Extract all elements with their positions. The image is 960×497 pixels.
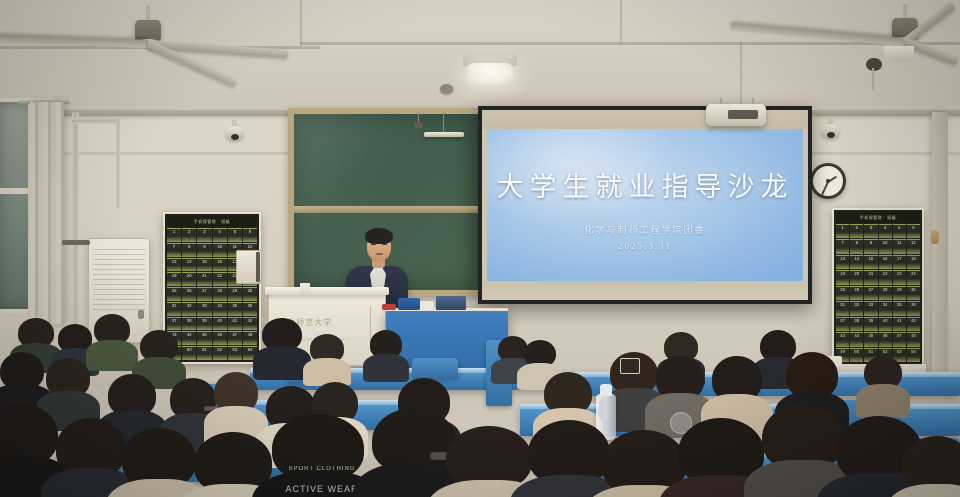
audience-member [214, 372, 258, 438]
pocket-chart-header: 手机保管袋 · 班级 [836, 212, 920, 223]
pocket-cell[interactable]: 54 [907, 348, 920, 362]
slide-subtitle-line-2: 2025.3.31 [487, 239, 803, 255]
pocket-cell[interactable]: 21 [197, 272, 211, 286]
upper-body [856, 384, 911, 417]
jacket-print-text-2: ACTIVE WEAR [278, 484, 366, 494]
pocket-cell[interactable]: 44 [182, 331, 196, 345]
clock-center-pin [826, 179, 830, 183]
pocket-cell[interactable]: 29 [893, 286, 906, 300]
camera-lens-icon [827, 132, 835, 138]
pocket-cell[interactable]: 41 [228, 317, 242, 331]
wall-camera-right [822, 118, 839, 138]
pocket-cell[interactable]: 36 [243, 302, 257, 316]
wall-camera-left [226, 120, 243, 140]
wall-pipe-thin [116, 118, 120, 208]
pocket-cell[interactable]: 12 [907, 239, 920, 253]
ceiling-speaker-stem [872, 68, 874, 90]
projector-vent [728, 110, 758, 119]
pocket-cell[interactable]: 42 [907, 317, 920, 331]
pocket-cell[interactable]: 14 [850, 255, 863, 269]
pocket-cell[interactable]: 2 [182, 228, 196, 242]
seat-back[interactable] [412, 358, 458, 378]
pocket-cell[interactable]: 6 [907, 224, 920, 238]
clock-minute-hand [821, 182, 829, 196]
pocket-cell[interactable]: 31 [167, 302, 181, 316]
audience-member-with-glasses [372, 408, 456, 497]
pocket-cell[interactable]: 10 [879, 239, 892, 253]
pocket-cell[interactable]: 25 [167, 287, 181, 301]
audience-member [56, 418, 126, 497]
pocket-cell[interactable]: 4 [879, 224, 892, 238]
lecture-hall-photo: 手机保管袋 · 班级 12345678910111213141516171819… [0, 0, 960, 497]
pocket-cell[interactable]: 15 [864, 255, 877, 269]
projected-slide: 大学生就业指导沙龙 化学与制药工程学院团委 2025.3.31 [487, 129, 803, 281]
bottle-cap [600, 384, 613, 396]
pocket-cell[interactable]: 47 [893, 332, 906, 346]
screen-bottom-band [482, 281, 808, 300]
pocket-cell[interactable]: 35 [893, 301, 906, 315]
ceiling-speaker-icon [440, 84, 453, 94]
pocket-cell[interactable]: 8 [850, 239, 863, 253]
white-paper-item [420, 301, 434, 310]
pocket-cell[interactable]: 8 [182, 243, 196, 257]
wall-switch-lever[interactable] [256, 252, 260, 282]
red-marker [382, 304, 396, 310]
pocket-cell[interactable]: 20 [850, 270, 863, 284]
hair-clip [620, 358, 640, 374]
pocket-cell[interactable]: 1 [167, 228, 181, 242]
pocket-cell[interactable]: 30 [907, 286, 920, 300]
pocket-cell[interactable]: 14 [182, 258, 196, 272]
slide-title: 大学生就业指导沙龙 [487, 165, 803, 204]
presenter-eye-left [371, 243, 376, 245]
pocket-cell[interactable]: 37 [167, 317, 181, 331]
pocket-cell[interactable]: 11 [893, 239, 906, 253]
pocket-chart-grid: 1234567891011121314151617181920212223242… [167, 227, 257, 360]
audience-member [370, 330, 402, 376]
pocket-cell[interactable]: 7 [167, 243, 181, 257]
pocket-cell[interactable]: 46 [213, 331, 227, 345]
pocket-cell[interactable]: 19 [167, 272, 181, 286]
curtain-left [30, 102, 64, 324]
audience-member [864, 356, 902, 410]
pocket-cell[interactable]: 25 [836, 286, 849, 300]
pocket-cell[interactable]: 32 [850, 301, 863, 315]
pocket-cell[interactable]: 47 [228, 331, 242, 345]
pocket-cell[interactable]: 21 [864, 270, 877, 284]
pocket-cell[interactable]: 7 [836, 239, 849, 253]
pocket-cell[interactable]: 22 [879, 270, 892, 284]
audience-member [310, 334, 344, 380]
pocket-cell[interactable]: 26 [182, 287, 196, 301]
pocket-cell[interactable]: 48 [243, 331, 257, 345]
pocket-cell[interactable]: 39 [864, 317, 877, 331]
pocket-cell[interactable]: 45 [197, 331, 211, 345]
pocket-cell[interactable]: 13 [836, 255, 849, 269]
pocket-cell[interactable]: 4 [213, 228, 227, 242]
projection-screen: 大学生就业指导沙龙 化学与制药工程学院团委 2025.3.31 [478, 106, 812, 304]
pocket-cell[interactable]: 31 [836, 301, 849, 315]
pocket-cell[interactable]: 41 [893, 317, 906, 331]
pocket-cell[interactable]: 40 [879, 317, 892, 331]
pocket-cell[interactable]: 42 [243, 317, 257, 331]
board-light-hook [414, 122, 423, 128]
pocket-cell[interactable]: 5 [228, 228, 242, 242]
pocket-cell[interactable]: 9 [864, 239, 877, 253]
pocket-cell[interactable]: 28 [213, 287, 227, 301]
pocket-cell[interactable]: 10 [213, 243, 227, 257]
pocket-cell[interactable]: 50 [850, 348, 863, 362]
pocket-cell[interactable]: 16 [213, 258, 227, 272]
paper-cup [300, 283, 310, 295]
presenter-hair [365, 228, 393, 244]
pocket-cell[interactable]: 48 [907, 332, 920, 346]
pocket-cell[interactable]: 37 [836, 317, 849, 331]
slide-subtitle-line-1: 化学与制药工程学院团委 [487, 223, 803, 239]
ceiling-joint-2 [620, 0, 622, 44]
pocket-cell[interactable]: 40 [213, 317, 227, 331]
slide-subtitle: 化学与制药工程学院团委 2025.3.31 [487, 223, 803, 255]
pocket-cell[interactable]: 34 [213, 302, 227, 316]
pocket-chart-grid: 1234567891011121314151617181920212223242… [836, 223, 920, 362]
board-light-fixture [424, 132, 464, 137]
pocket-cell[interactable]: 16 [879, 255, 892, 269]
board-light-wire [443, 112, 444, 134]
pocket-chart-header: 手机保管袋 · 班级 [167, 216, 257, 227]
pocket-cell[interactable]: 26 [850, 286, 863, 300]
screen-surface: 大学生就业指导沙龙 化学与制药工程学院团委 2025.3.31 [482, 110, 808, 300]
pocket-cell[interactable]: 52 [213, 346, 227, 360]
pocket-cell[interactable]: 45 [864, 332, 877, 346]
pocket-cell[interactable]: 3 [864, 224, 877, 238]
pocket-cell[interactable]: 35 [228, 302, 242, 316]
pocket-cell[interactable]: 18 [907, 255, 920, 269]
ceiling-light [463, 50, 517, 86]
door-handle[interactable] [931, 230, 939, 244]
pocket-cell[interactable]: 53 [228, 346, 242, 360]
pocket-cell[interactable]: 23 [893, 270, 906, 284]
pocket-cell[interactable]: 27 [197, 287, 211, 301]
pocket-cell[interactable]: 38 [850, 317, 863, 331]
light-diffuser [467, 63, 513, 85]
pocket-cell[interactable]: 22 [213, 272, 227, 286]
audience-member [902, 436, 960, 497]
wall-pipe-vertical [72, 112, 79, 327]
audience-member [94, 314, 130, 364]
wall-pipe-horizontal [72, 118, 120, 124]
ceiling-speaker-icon [866, 58, 882, 71]
pocket-cell[interactable]: 44 [850, 332, 863, 346]
pocket-cell[interactable]: 46 [879, 332, 892, 346]
ac-grille [93, 249, 146, 313]
audience-member [528, 420, 610, 497]
ceiling-lamp-shade [884, 46, 914, 62]
wall-clock [810, 163, 846, 199]
jacket-print-text-1: SPORT CLOTHING [278, 466, 366, 472]
pocket-cell[interactable]: 13 [167, 258, 181, 272]
ceiling-joint-1 [300, 0, 302, 46]
pocket-cell[interactable]: 51 [197, 346, 211, 360]
upper-body [86, 340, 138, 371]
pocket-cell[interactable]: 39 [197, 317, 211, 331]
pocket-cell[interactable]: 19 [836, 270, 849, 284]
lectern-top-surface [265, 287, 389, 295]
pocket-cell[interactable]: 9 [197, 243, 211, 257]
blue-box-item [398, 298, 420, 310]
pocket-cell[interactable]: 33 [197, 302, 211, 316]
audience-member [122, 428, 196, 497]
pocket-cell[interactable]: 1 [836, 224, 849, 238]
pocket-cell[interactable]: 30 [243, 287, 257, 301]
presenter-eye-right [382, 243, 387, 245]
ceiling-seam-2 [300, 42, 960, 45]
ac-badge [138, 310, 145, 319]
pocket-cell[interactable]: 15 [197, 258, 211, 272]
audience-member [262, 318, 302, 372]
pocket-cell[interactable]: 24 [907, 270, 920, 284]
pocket-cell[interactable]: 33 [864, 301, 877, 315]
pocket-cell[interactable]: 17 [893, 255, 906, 269]
laptop-screen [436, 296, 466, 310]
ceiling-projector [706, 98, 766, 128]
ac-bracket [62, 240, 90, 245]
pocket-cell[interactable]: 50 [182, 346, 196, 360]
pocket-cell[interactable]: 36 [907, 301, 920, 315]
pocket-cell[interactable]: 27 [864, 286, 877, 300]
pocket-cell[interactable]: 43 [836, 332, 849, 346]
pocket-cell[interactable]: 29 [228, 287, 242, 301]
pocket-cell[interactable]: 3 [197, 228, 211, 242]
pocket-cell[interactable]: 5 [893, 224, 906, 238]
pocket-cell[interactable]: 6 [243, 228, 257, 242]
camera-lens-icon [231, 134, 239, 140]
pocket-cell[interactable]: 34 [879, 301, 892, 315]
chalkboard-divider [294, 206, 478, 213]
pocket-cell[interactable]: 32 [182, 302, 196, 316]
pocket-cell[interactable]: 20 [182, 272, 196, 286]
phone-pocket-chart-right: 手机保管袋 · 班级 12345678910111213141516171819… [832, 208, 924, 366]
pocket-cell[interactable]: 28 [879, 286, 892, 300]
pocket-cell[interactable]: 38 [182, 317, 196, 331]
pocket-cell[interactable]: 2 [850, 224, 863, 238]
presenter-mouth [376, 253, 383, 255]
